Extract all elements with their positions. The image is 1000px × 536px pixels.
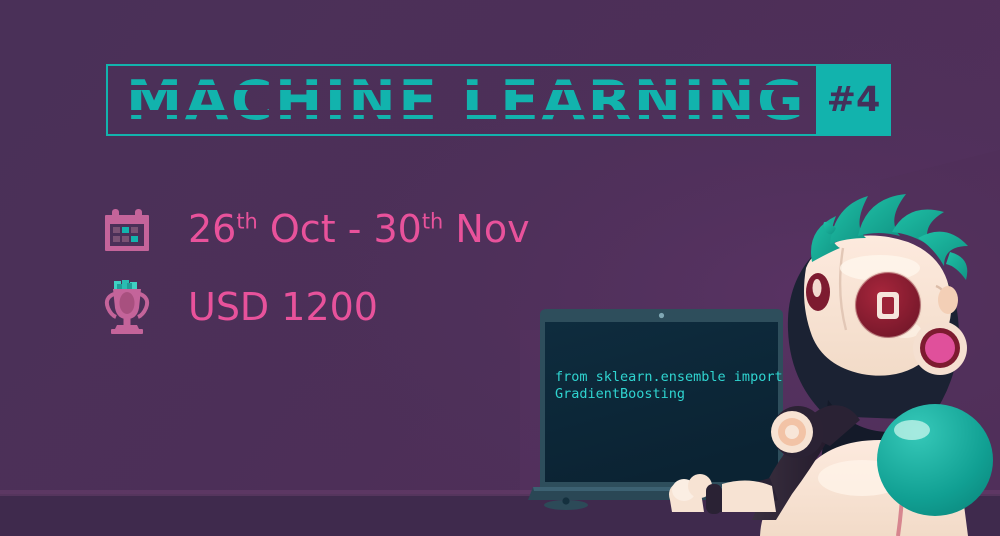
wrist-band: [706, 484, 722, 514]
machine-learning-wordmark: MACHINE LEARNING: [126, 69, 816, 131]
date-start-month: Oct: [270, 207, 336, 251]
cash-bills: [114, 280, 137, 290]
date-end-suffix: th: [422, 209, 443, 233]
poster-canvas: from sklearn.ensemble import GradientBoo…: [0, 0, 1000, 536]
course-price-row: USD 1200: [104, 270, 530, 344]
robot-nose-tip: [938, 286, 958, 314]
laptop-foot-dot: [562, 497, 569, 504]
title-banner: MACHINE LEARNING #4: [106, 64, 891, 136]
robot-eye-left-glint: [813, 279, 822, 297]
issue-badge-label: #4: [827, 80, 881, 120]
robot-eye-pupil-inner: [882, 297, 894, 314]
date-separator: -: [348, 207, 362, 251]
code-line-2: GradientBoosting: [555, 386, 685, 402]
calendar-icon: [104, 205, 150, 253]
palm: [722, 480, 776, 512]
course-dates-row: 26th Oct - 30th Nov: [104, 192, 530, 266]
banner-title-area: MACHINE LEARNING: [108, 66, 816, 134]
course-price-label: USD 1200: [188, 285, 378, 329]
robot-shoulder: [877, 404, 993, 516]
banner-title-text: MACHINE LEARNING: [126, 69, 806, 131]
date-start-suffix: th: [236, 209, 257, 233]
shoulder-highlight: [894, 420, 930, 440]
date-end-month: Nov: [455, 207, 529, 251]
ear-center: [925, 333, 955, 363]
date-start-day: 26: [188, 207, 236, 251]
robot-ear: [913, 321, 967, 375]
trophy-icon-wrap: [104, 280, 166, 334]
trophy-icon: [104, 280, 150, 334]
laptop: from sklearn.ensemble import GradientBoo…: [528, 309, 795, 510]
webcam-dot: [659, 313, 664, 318]
laptop-screen: [545, 322, 778, 482]
issue-badge: #4: [816, 64, 891, 136]
code-line-1: from sklearn.ensemble import: [555, 369, 783, 385]
course-dates-label: 26th Oct - 30th Nov: [188, 207, 530, 251]
date-end-day: 30: [374, 207, 422, 251]
calendar-icon-wrap: [104, 205, 166, 253]
info-list: 26th Oct - 30th Nov: [104, 192, 530, 344]
